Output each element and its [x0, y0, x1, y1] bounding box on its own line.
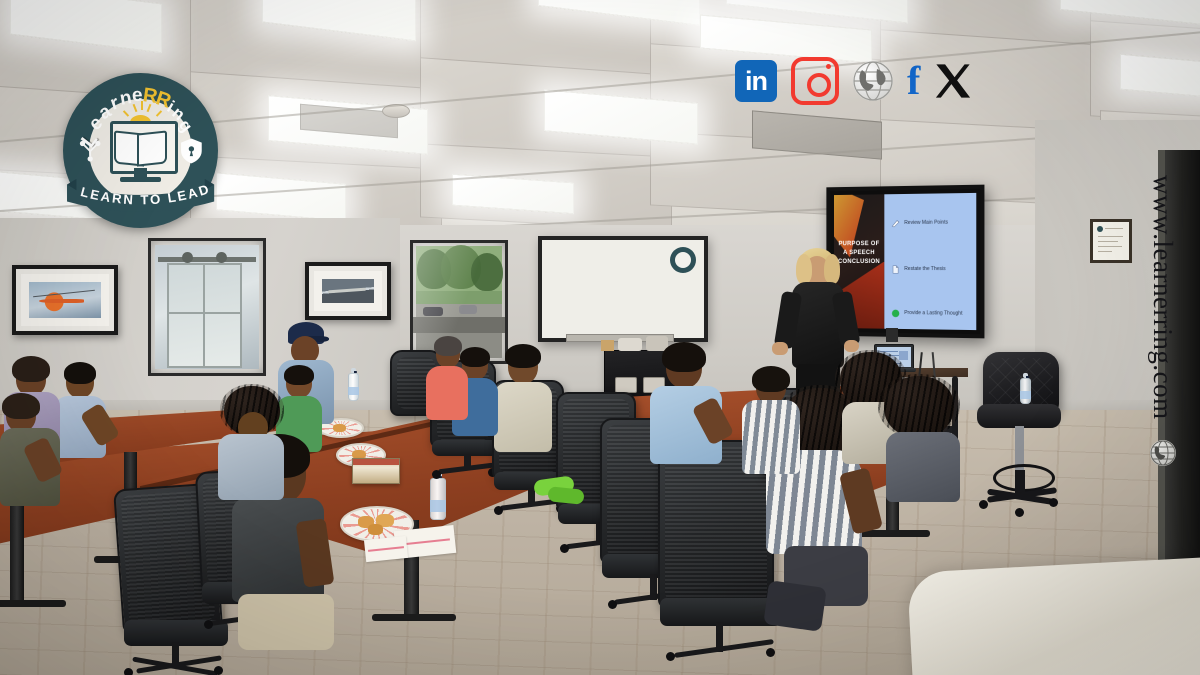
student [0, 398, 66, 534]
website-globe-icon[interactable] [853, 61, 893, 101]
slide-bullet-text: Restate the Thesis [904, 267, 945, 272]
hair [824, 254, 840, 284]
table-foot [0, 600, 66, 607]
classroom-photo: PURPOSE OF A SPEECH CONCLUSION Review Ma… [0, 0, 1200, 675]
framed-aircraft-photo [305, 262, 391, 320]
tissue-box [618, 338, 642, 351]
framed-certificate [1090, 219, 1132, 263]
tv-wall-mount [886, 328, 898, 342]
student [884, 376, 964, 502]
hair [796, 254, 812, 284]
hair [2, 393, 40, 419]
framed-helicopter-photo [12, 265, 118, 335]
student [426, 340, 474, 432]
watermark-globe-icon [1150, 440, 1176, 466]
instagram-icon[interactable] [791, 57, 839, 105]
napkin [364, 536, 408, 562]
leg [238, 594, 334, 650]
leg [763, 580, 827, 632]
torso [886, 432, 960, 502]
student [742, 370, 806, 486]
torso [742, 400, 800, 474]
student [648, 346, 732, 486]
slide-bullet-text: Provide a Lasting Thought [904, 311, 962, 317]
torso [218, 434, 284, 500]
pencil-cup [601, 340, 614, 351]
pen-check-icon [891, 219, 900, 228]
hand [844, 340, 859, 352]
hair [12, 356, 50, 382]
x-twitter-icon[interactable] [934, 62, 972, 100]
hair [884, 376, 954, 438]
logo-banner: LEARN TO LEAD [60, 177, 221, 220]
facebook-glyph: f [907, 58, 920, 103]
green-dot-icon [891, 309, 900, 318]
water-bottle[interactable] [430, 478, 446, 520]
hair [505, 344, 541, 368]
slide-bullet-text: Review Main Points [904, 221, 948, 226]
linkedin-icon[interactable]: in [735, 60, 777, 102]
social-icons-row: in f [735, 58, 972, 104]
hair [752, 366, 790, 392]
learnerring-logo: L e a r n e R R i n g [63, 73, 218, 228]
facebook-icon[interactable]: f [907, 63, 920, 99]
whiteboard-logo-decal [670, 247, 696, 273]
hair [64, 362, 96, 384]
shield-icon [179, 137, 204, 165]
interior-window [148, 238, 266, 376]
torso [426, 366, 468, 420]
whiteboard [538, 236, 708, 342]
hair [434, 336, 462, 356]
hair [284, 365, 314, 385]
student [218, 386, 292, 516]
hair [662, 342, 706, 372]
water-bottle[interactable] [1020, 378, 1031, 404]
book[interactable] [352, 458, 400, 484]
table-foot [372, 614, 456, 621]
linkedin-glyph: in [745, 68, 767, 95]
network-icon [77, 138, 103, 164]
water-bottle[interactable] [348, 373, 359, 401]
open-book-icon [114, 132, 167, 161]
hand [772, 342, 788, 355]
website-watermark: www.learnerring.com [1147, 175, 1178, 420]
document-icon [891, 265, 900, 274]
tablecloth [907, 557, 1200, 675]
